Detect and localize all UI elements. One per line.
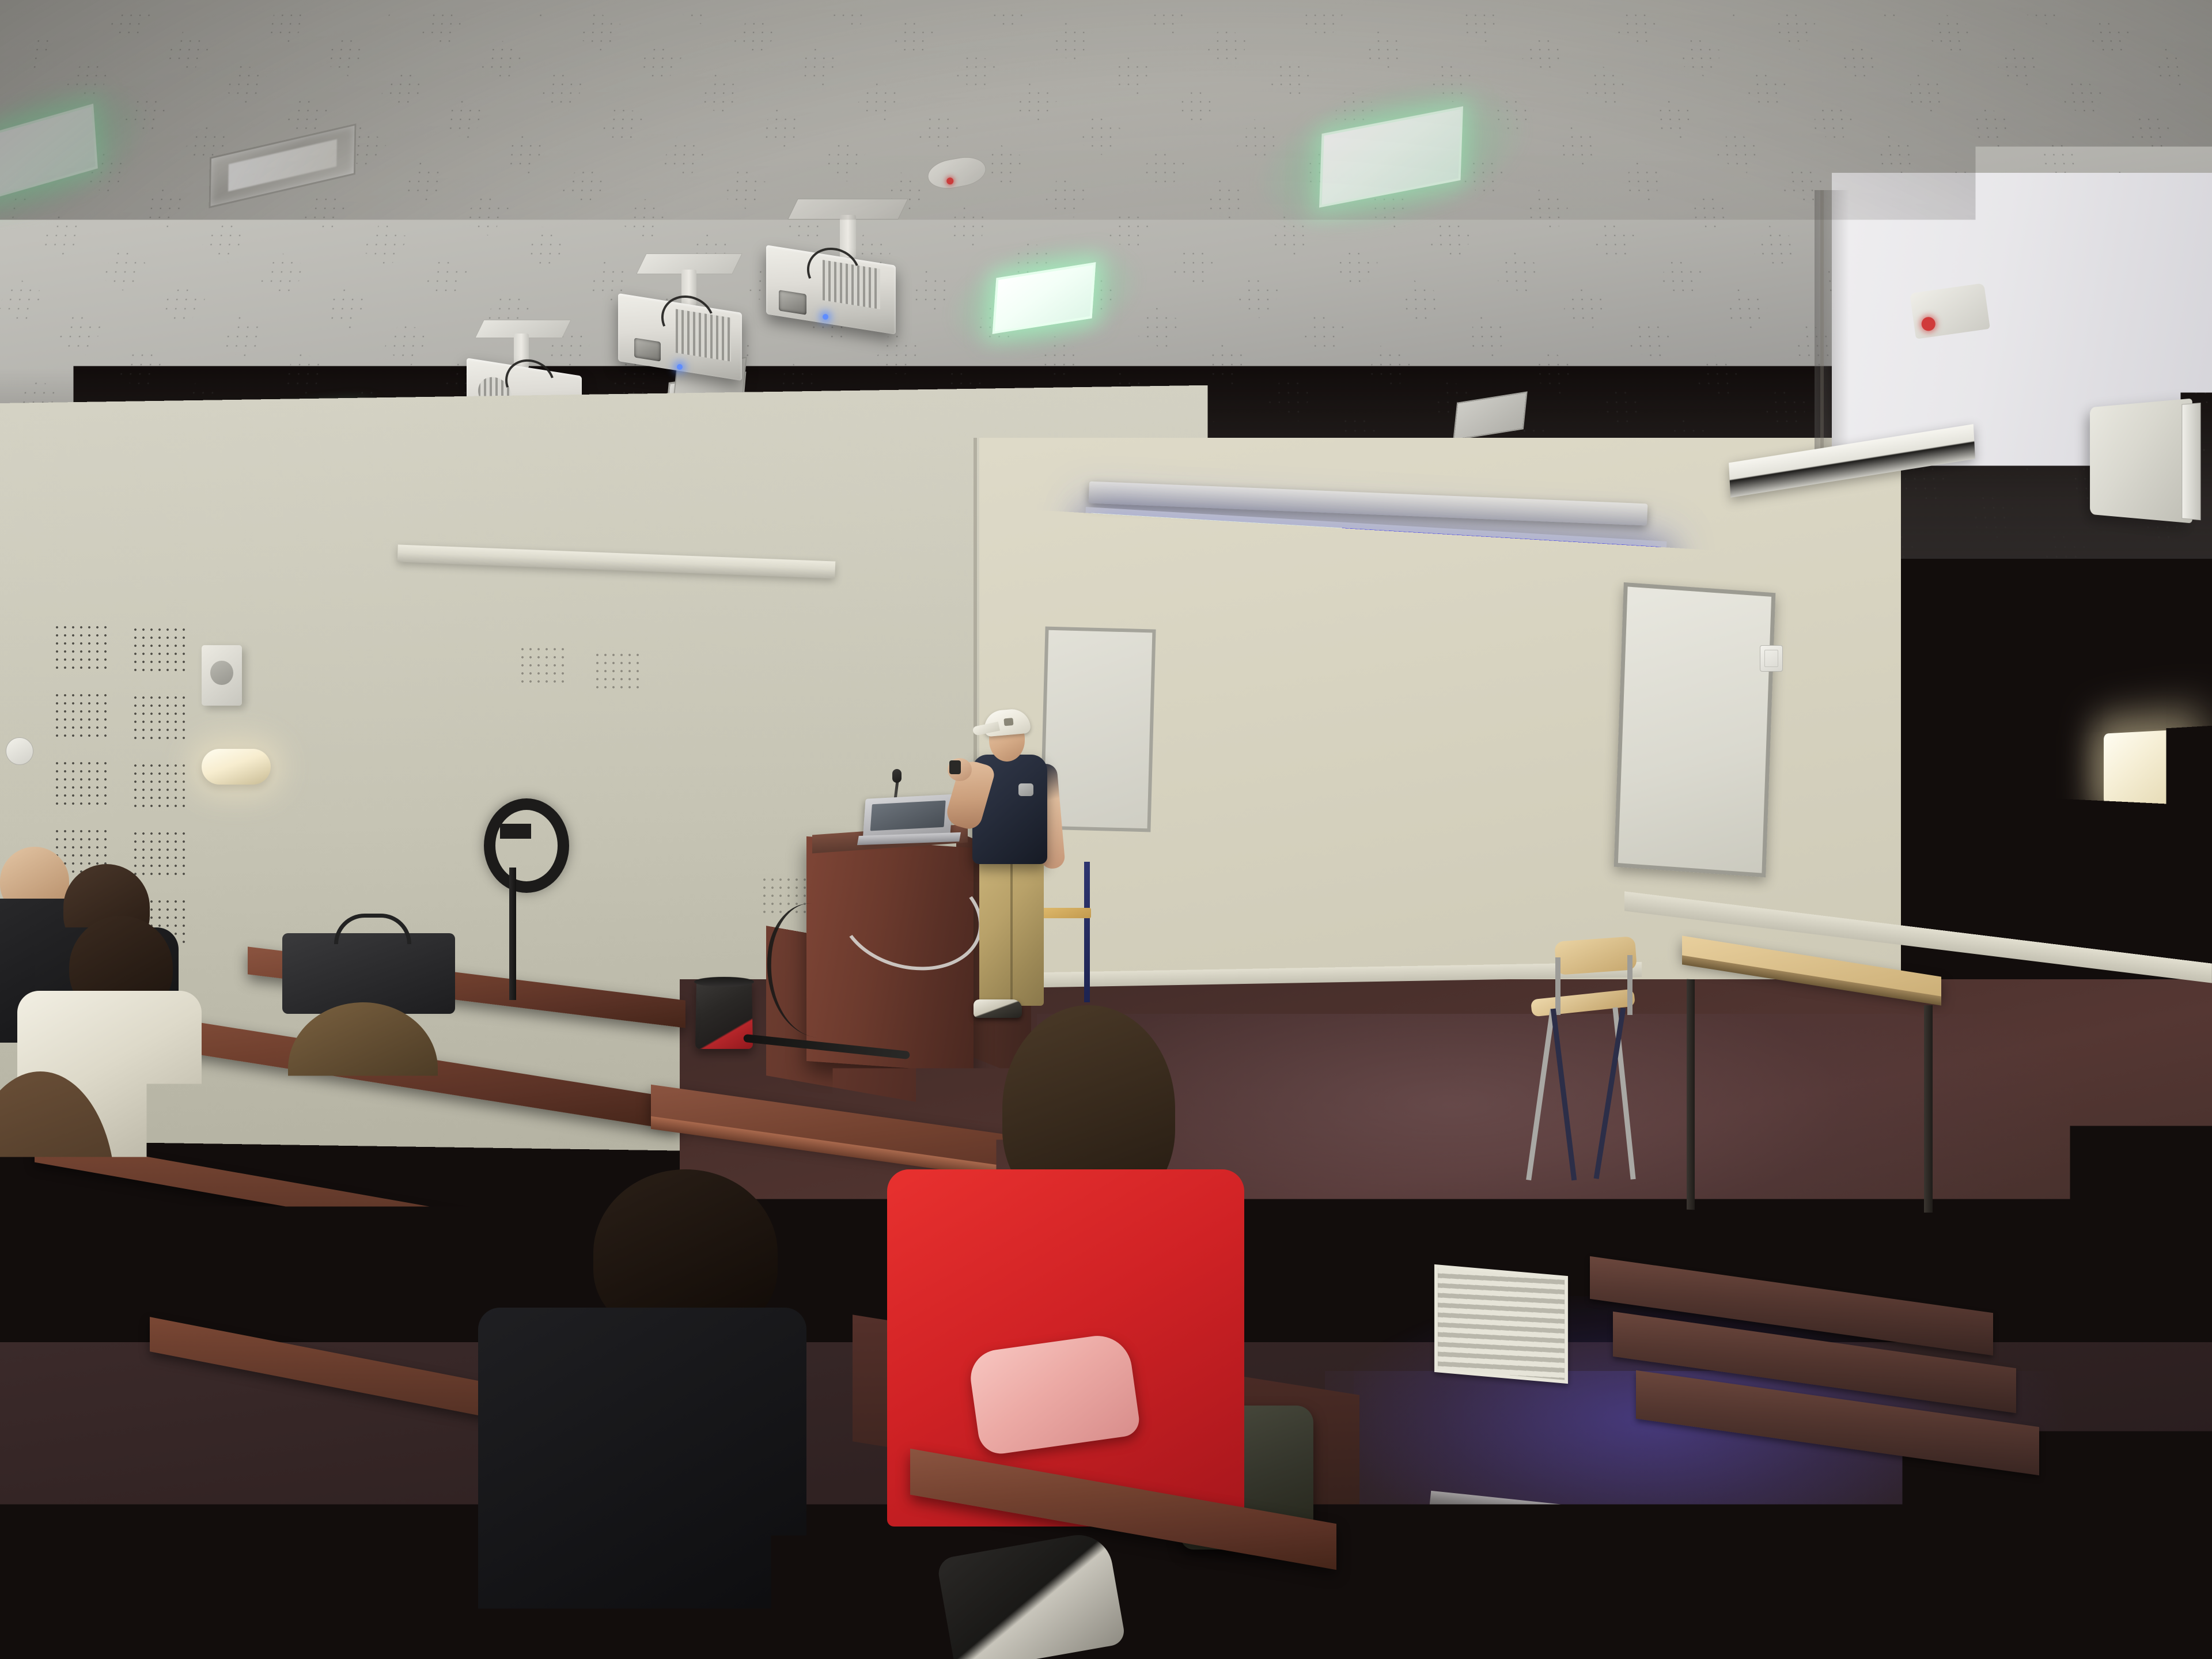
- ring-light-phone-clamp: [500, 824, 531, 839]
- stage-table-leg-left: [1687, 979, 1695, 1210]
- slide-image-panel: [1075, 513, 1342, 919]
- air-vent-icon: [1434, 1264, 1568, 1384]
- slide-text-panel: Ce bouton n'est pas idempotent: [1326, 528, 1661, 938]
- lecture-hall-photo: Ce bouton n'est pas idempotent: [0, 0, 2212, 1659]
- presentation-clicker[interactable]: [949, 760, 961, 774]
- slide-headline: Ce bouton n'est pas idempotent: [1332, 666, 1581, 796]
- car-key-fob-icon: [1082, 556, 1331, 844]
- presenter-shoe: [974, 999, 1022, 1018]
- projection-screen: Ce bouton n'est pas idempotent: [1070, 507, 1667, 944]
- jacket-pile-2: [1251, 1145, 1434, 1286]
- acoustic-panel-back-1: [518, 645, 565, 685]
- wall-lamp-right: [2104, 729, 2187, 809]
- acoustic-panel-r2c1: [53, 691, 108, 738]
- ceiling-light-panel-3: [993, 262, 1096, 334]
- presenter-shirt-logo: [1018, 783, 1033, 796]
- wall-speaker-right-icon: [2090, 399, 2192, 524]
- wall-clock-icon: [6, 737, 33, 765]
- phone-notch: [358, 1489, 383, 1506]
- microphone-head-icon: [892, 769, 902, 783]
- ceiling-light-panel-1: [0, 104, 98, 202]
- wall-lamp-left: [202, 749, 271, 785]
- acoustic-panel-r1c2: [131, 626, 187, 673]
- acoustic-panel-r3c1: [53, 759, 108, 806]
- stage-steps: [1590, 1285, 2028, 1457]
- stage-table-leg-right: [1924, 1005, 1933, 1213]
- acoustic-panel-r3c2: [131, 762, 187, 809]
- audience-body-long-hair-left: [0, 1256, 144, 1498]
- acoustic-panel-r4c2: [131, 829, 187, 877]
- presenter-legs: [979, 857, 1044, 1006]
- slide-content: Ce bouton n'est pas idempotent: [1075, 513, 1661, 938]
- acoustic-panel-r2c2: [131, 694, 187, 741]
- light-switch-icon[interactable]: [1760, 645, 1783, 672]
- projector-right: [743, 199, 927, 354]
- audience-body-black-tee: [478, 1308, 806, 1659]
- wall-speaker-left-icon: [202, 645, 242, 706]
- folding-chair: [1521, 939, 1665, 1198]
- acoustic-panel-r1c1: [53, 623, 108, 671]
- ceiling-light-panel-2: [1319, 107, 1463, 208]
- acoustic-panel-back-2: [593, 651, 639, 691]
- ring-light: [484, 798, 569, 893]
